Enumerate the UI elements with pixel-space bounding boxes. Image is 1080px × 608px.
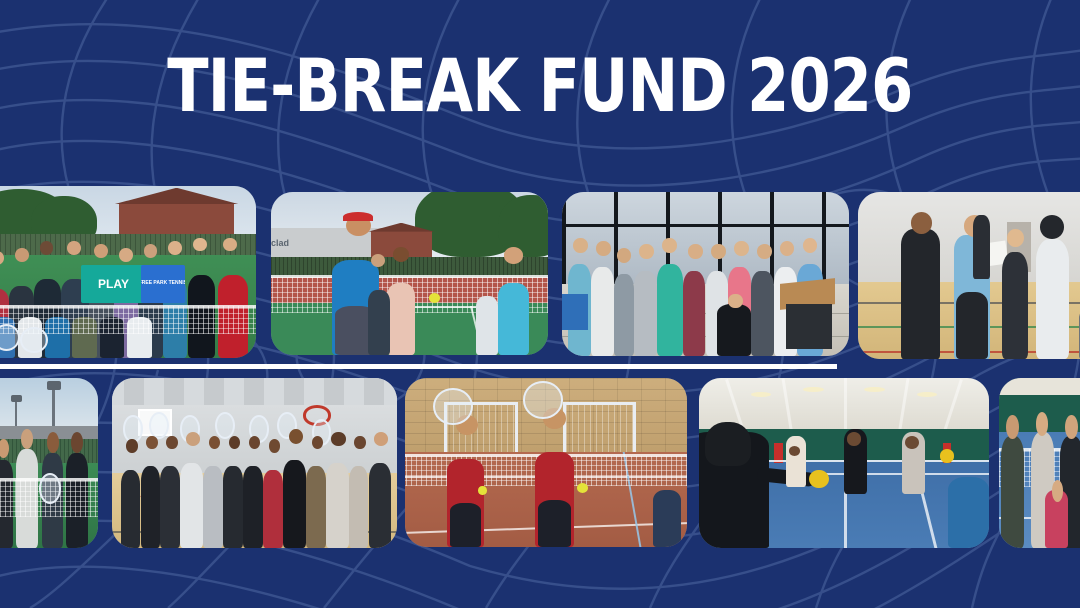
photo-7-scene xyxy=(405,378,687,547)
person-head xyxy=(1036,412,1049,436)
person-head xyxy=(331,432,345,446)
ceiling-light xyxy=(917,392,937,397)
person xyxy=(653,490,681,547)
crouching-person-head xyxy=(728,294,742,309)
person xyxy=(160,466,180,548)
child xyxy=(368,290,390,355)
photo-8-scene xyxy=(699,378,989,548)
photo-2-scene: oclad xyxy=(271,192,548,355)
person xyxy=(948,477,989,548)
person-head xyxy=(119,248,133,262)
tennis-ball xyxy=(577,483,588,493)
racket-icon xyxy=(433,388,472,425)
coach-hair xyxy=(705,422,751,466)
racket-icon xyxy=(20,327,47,353)
racket-icon xyxy=(523,381,562,418)
free-park-tennis-banner: FREE PARK TENNIS xyxy=(141,265,185,303)
person xyxy=(263,470,283,548)
play-banner: PLAY xyxy=(81,265,147,303)
gallery-photo-7[interactable] xyxy=(405,378,687,547)
person-head xyxy=(711,244,725,259)
person-head xyxy=(354,436,365,450)
person xyxy=(369,463,392,548)
racket-icon xyxy=(215,412,235,439)
person-head xyxy=(688,244,702,259)
tennis-ball xyxy=(429,293,440,303)
person-head xyxy=(40,241,54,255)
person-head xyxy=(662,238,676,253)
person-head xyxy=(166,436,177,450)
poster-canvas: TIE-BREAK FUND 2026 xyxy=(0,0,1080,608)
person xyxy=(751,271,774,356)
person xyxy=(1002,252,1028,359)
kneeling-person-head xyxy=(1052,480,1064,502)
white-divider-rule xyxy=(0,364,837,369)
child xyxy=(498,283,528,355)
net-cord xyxy=(0,305,256,308)
person-head xyxy=(1007,229,1024,247)
person-head xyxy=(193,238,207,252)
child-head xyxy=(504,247,523,263)
goal-net xyxy=(563,402,636,453)
person xyxy=(326,463,349,548)
person-head xyxy=(639,244,653,259)
person xyxy=(283,460,306,548)
gallery-photo-3[interactable] xyxy=(562,192,849,356)
photo-3-scene xyxy=(562,192,849,356)
photo-1-scene: PLAY FREE PARK TENNIS xyxy=(0,186,256,358)
child-head xyxy=(371,254,385,267)
person-head xyxy=(617,248,631,263)
person xyxy=(634,271,657,356)
gallery-photo-2[interactable]: oclad xyxy=(271,192,548,355)
child-skirt xyxy=(450,503,481,547)
person-head xyxy=(596,241,610,256)
person xyxy=(1001,436,1024,548)
person xyxy=(223,466,243,548)
photo-5-scene xyxy=(0,378,98,548)
wall-cladding xyxy=(112,378,397,405)
photo-6-scene xyxy=(112,378,397,548)
tennis-ball xyxy=(478,486,486,494)
person-head xyxy=(269,439,280,453)
person xyxy=(683,271,706,356)
person xyxy=(657,264,683,356)
person-head xyxy=(734,241,748,256)
dome-rib xyxy=(844,378,847,436)
person-head xyxy=(223,238,237,252)
person xyxy=(203,466,223,548)
gallery-photo-9[interactable] xyxy=(999,378,1080,548)
person-head xyxy=(146,436,157,450)
free-park-tennis-text: FREE PARK TENNIS xyxy=(141,281,185,287)
person-head xyxy=(47,432,59,452)
gallery-photo-6[interactable] xyxy=(112,378,397,548)
page-title-container: TIE-BREAK FUND 2026 xyxy=(0,52,1080,121)
person-head xyxy=(312,436,323,450)
person-head xyxy=(757,244,771,259)
person-head xyxy=(15,248,29,262)
blue-padding xyxy=(562,294,588,330)
person xyxy=(141,466,161,548)
gallery-photo-8[interactable] xyxy=(699,378,989,548)
person xyxy=(180,463,203,548)
person-head xyxy=(1006,415,1019,439)
ceiling-light xyxy=(864,387,884,392)
child xyxy=(387,283,415,355)
person xyxy=(591,267,614,356)
person-head xyxy=(911,212,933,234)
child xyxy=(476,296,498,355)
person-head xyxy=(67,241,81,255)
ceiling-light xyxy=(751,392,771,397)
person-head xyxy=(1065,415,1078,439)
tree-icon xyxy=(498,195,548,257)
photo-9-scene xyxy=(999,378,1080,548)
person-head xyxy=(168,241,182,255)
page-title: TIE-BREAK FUND 2026 xyxy=(167,52,912,121)
signage: oclad xyxy=(271,238,289,248)
person xyxy=(614,274,634,356)
person xyxy=(973,215,990,278)
photo-4-scene xyxy=(858,192,1080,359)
person-head xyxy=(1040,215,1064,238)
child-skirt xyxy=(538,500,572,547)
person xyxy=(349,466,369,548)
gallery-photo-4[interactable] xyxy=(858,192,1080,359)
play-banner-text: PLAY xyxy=(98,277,129,291)
person xyxy=(306,466,326,548)
person-head xyxy=(573,238,587,253)
gallery-photo-1[interactable]: PLAY FREE PARK TENNIS xyxy=(0,186,256,358)
crouching-person xyxy=(717,304,751,356)
ceiling-light xyxy=(803,387,823,392)
signage-text: oclad xyxy=(271,238,289,248)
person-head xyxy=(126,439,137,453)
floodlight-head xyxy=(47,381,62,390)
red-cap-icon xyxy=(343,212,373,222)
dome-ceiling xyxy=(999,378,1080,395)
net-cord xyxy=(271,275,548,278)
person xyxy=(1036,239,1070,359)
floodlight-head xyxy=(11,395,22,402)
person xyxy=(243,466,263,548)
coach-trousers xyxy=(956,292,987,359)
person-head xyxy=(803,238,817,253)
person xyxy=(901,229,939,359)
equipment-trolley xyxy=(786,304,832,350)
person xyxy=(121,470,141,548)
gallery-photo-5[interactable] xyxy=(0,378,98,548)
yellow-ball xyxy=(940,449,955,463)
child xyxy=(786,436,806,487)
